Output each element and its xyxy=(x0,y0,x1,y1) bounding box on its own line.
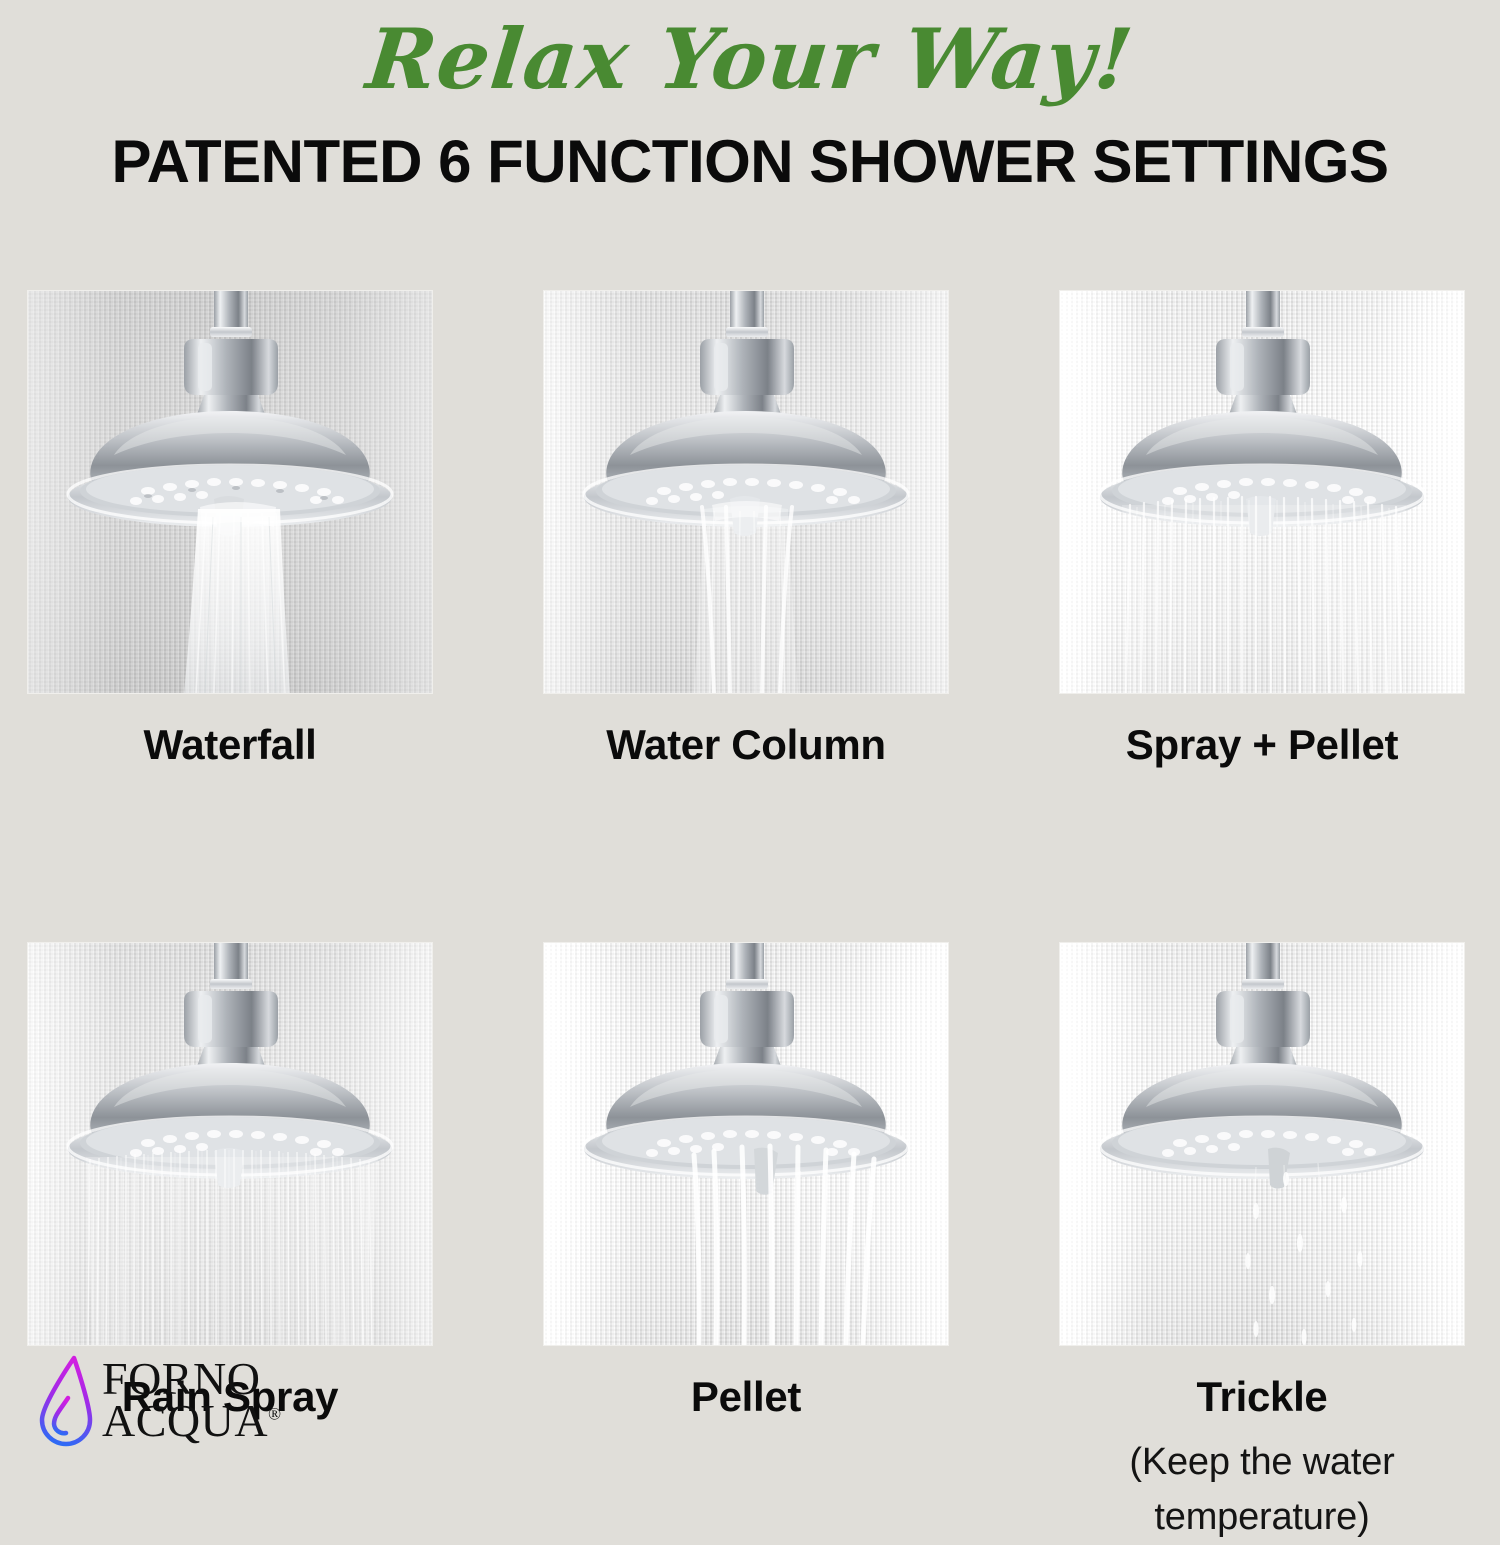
shower-photo-water-column xyxy=(544,291,948,693)
shower-head-column-photo-icon xyxy=(544,291,948,693)
settings-row-2: Rain Spray xyxy=(28,943,1464,1545)
shower-photo-spray-pellet xyxy=(1060,291,1464,693)
shower-head-rain-photo-icon xyxy=(28,943,432,1345)
shower-head-trickle-photo-icon xyxy=(1060,943,1464,1345)
water-drop-icon xyxy=(34,1352,96,1448)
shower-photo-waterfall xyxy=(28,291,432,693)
infographic-page: Relax Your Way! PATENTED 6 FUNCTION SHOW… xyxy=(0,0,1500,1500)
setting-card-spray-pellet[interactable]: Spray + Pellet xyxy=(1060,291,1464,767)
brand-line-1: FORNO xyxy=(102,1358,281,1400)
setting-label: Spray + Pellet xyxy=(1060,723,1464,767)
shower-photo-pellet xyxy=(544,943,948,1345)
setting-card-waterfall[interactable]: Waterfall xyxy=(28,291,432,767)
page-title: PATENTED 6 FUNCTION SHOWER SETTINGS xyxy=(0,132,1500,192)
settings-row-1: Waterfall xyxy=(28,291,1464,767)
setting-card-trickle[interactable]: Trickle (Keep the water temperature) xyxy=(1060,943,1464,1545)
shower-photo-rain-spray xyxy=(28,943,432,1345)
brand-wordmark: FORNO ACQUA® xyxy=(102,1358,281,1443)
brand-logo[interactable]: FORNO ACQUA® xyxy=(34,1352,281,1448)
script-headline: Relax Your Way! xyxy=(0,18,1500,101)
setting-label: Pellet xyxy=(544,1375,948,1419)
setting-card-water-column[interactable]: Water Column xyxy=(544,291,948,767)
setting-card-rain-spray[interactable]: Rain Spray xyxy=(28,943,432,1545)
setting-label: Waterfall xyxy=(28,723,432,767)
setting-card-pellet[interactable]: Pellet xyxy=(544,943,948,1545)
registered-mark: ® xyxy=(268,1405,281,1424)
shower-head-spray-pellet-photo-icon xyxy=(1060,291,1464,693)
shower-head-pellet-photo-icon xyxy=(544,943,948,1345)
setting-sublabel: (Keep the water temperature) xyxy=(1060,1435,1464,1545)
brand-line-2: ACQUA® xyxy=(102,1400,281,1442)
setting-label: Water Column xyxy=(544,723,948,767)
brand-line-2-text: ACQUA xyxy=(102,1395,268,1446)
shower-head-waterfall-photo-icon xyxy=(28,291,432,693)
setting-label: Trickle xyxy=(1060,1375,1464,1419)
shower-photo-trickle xyxy=(1060,943,1464,1345)
